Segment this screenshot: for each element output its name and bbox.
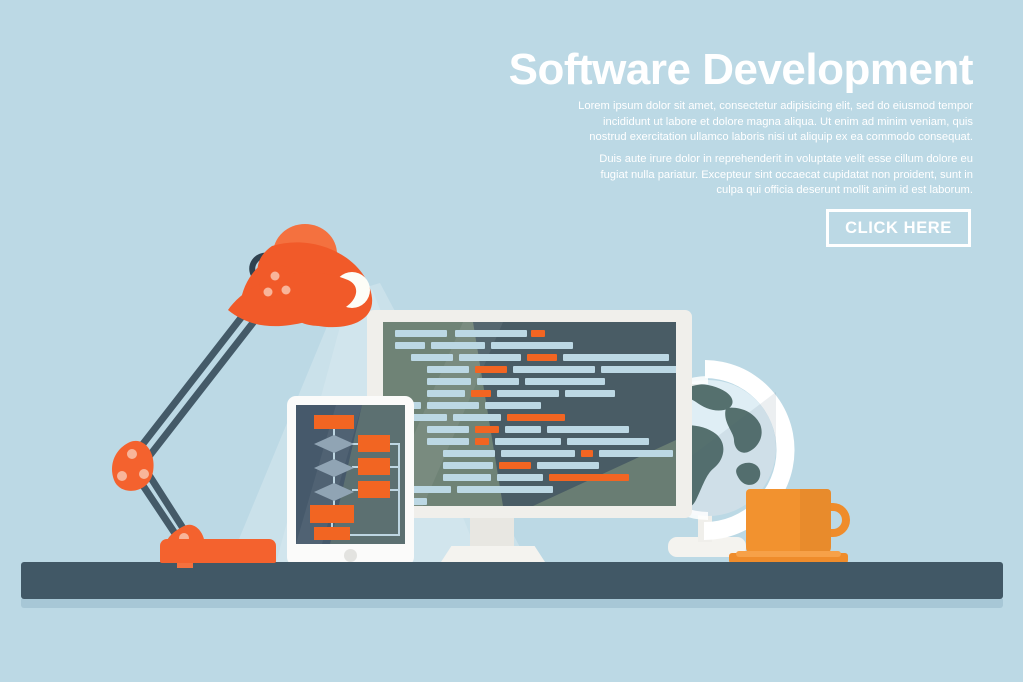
code-line-segment <box>443 474 491 481</box>
code-line-segment <box>431 342 485 349</box>
hero-paragraph-2: Duis aute irure dolor in reprehenderit i… <box>573 152 973 199</box>
code-line-segment <box>497 474 543 481</box>
code-line-segment <box>459 354 521 361</box>
code-line-segment <box>477 378 519 385</box>
code-line-segment <box>505 426 541 433</box>
desk-lamp <box>100 218 400 568</box>
monitor-base <box>441 546 545 562</box>
code-line-segment <box>427 426 469 433</box>
code-keyword-segment <box>531 330 545 337</box>
code-keyword-segment <box>475 438 489 445</box>
code-line-segment <box>513 366 595 373</box>
code-line-segment <box>501 450 575 457</box>
code-line-segment <box>563 354 669 361</box>
code-keyword-segment <box>475 426 499 433</box>
code-line-segment <box>411 354 453 361</box>
monitor-neck <box>470 518 514 549</box>
code-line-segment <box>497 390 559 397</box>
code-line-segment <box>427 366 469 373</box>
code-keyword-segment <box>581 450 593 457</box>
code-line-segment <box>485 402 541 409</box>
code-line-segment <box>601 366 676 373</box>
code-line-segment <box>427 402 479 409</box>
code-line-segment <box>525 378 605 385</box>
monitor-screen <box>383 322 676 506</box>
code-keyword-segment <box>507 414 565 421</box>
code-line-segment <box>427 378 471 385</box>
code-line-segment <box>427 390 465 397</box>
code-line-segment <box>547 426 629 433</box>
page-title: Software Development <box>443 46 973 94</box>
code-line-segment <box>395 330 447 337</box>
cup-shading <box>800 489 831 556</box>
lamp-base <box>160 539 276 563</box>
code-line-segment <box>567 438 649 445</box>
code-keyword-segment <box>499 462 531 469</box>
click-here-button[interactable]: CLICK HERE <box>826 209 971 247</box>
code-line-segment <box>599 450 673 457</box>
code-keyword-segment <box>549 474 629 481</box>
illustration-canvas: Software Development Lorem ipsum dolor s… <box>0 0 1023 682</box>
code-line-segment <box>443 462 493 469</box>
desk-shadow <box>21 599 1003 608</box>
code-line-segment <box>537 462 599 469</box>
code-line-segment <box>495 438 561 445</box>
code-line-segment <box>427 438 469 445</box>
code-line-segment <box>453 414 501 421</box>
code-keyword-segment <box>471 390 491 397</box>
code-line-segment <box>411 486 451 493</box>
code-keyword-segment <box>527 354 557 361</box>
cup-saucer-top <box>736 551 841 557</box>
code-keyword-segment <box>475 366 507 373</box>
code-line-segment <box>491 342 573 349</box>
code-line-segment <box>443 450 495 457</box>
code-line-segment <box>457 486 553 493</box>
code-line-segment <box>455 330 527 337</box>
hero-paragraph-1: Lorem ipsum dolor sit amet, consectetur … <box>573 99 973 146</box>
code-line-segment <box>565 390 615 397</box>
